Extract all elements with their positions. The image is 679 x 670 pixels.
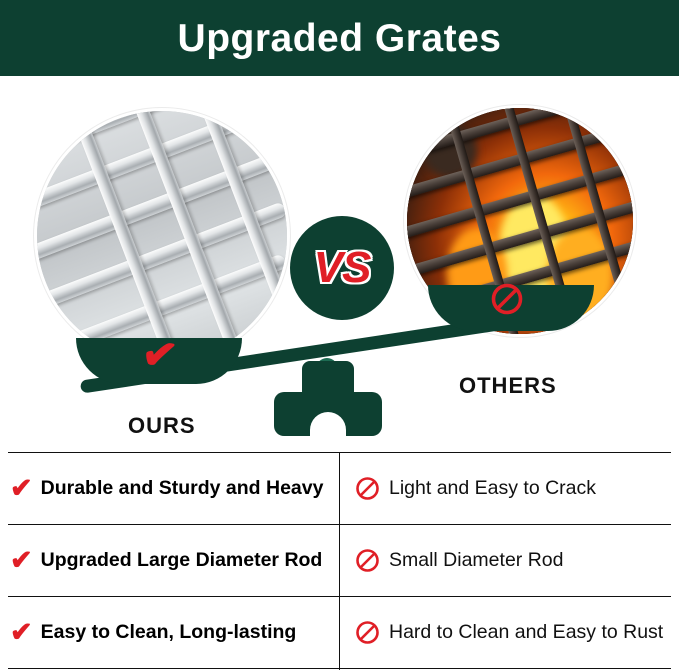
ours-product-photo [34,108,290,364]
prohibition-icon [355,476,380,501]
table-row: ✔ Easy to Clean, Long-lasting Hard to Cl… [0,596,679,668]
feature-cell-ours: ✔ Durable and Sturdy and Heavy [0,452,339,524]
feature-label-ours: Durable and Sturdy and Heavy [41,477,324,499]
feature-label-ours: Easy to Clean, Long-lasting [41,621,297,643]
feature-label-ours: Upgraded Large Diameter Rod [41,549,323,571]
feature-label-others: Hard to Clean and Easy to Rust [389,621,663,643]
scale-base [274,361,382,436]
vs-badge: VS [290,216,394,320]
feature-cell-ours: ✔ Easy to Clean, Long-lasting [0,596,339,668]
feature-cell-others: Light and Easy to Crack [339,452,679,524]
feature-cell-ours: ✔ Upgraded Large Diameter Rod [0,524,339,596]
comparison-stage: ✔ OURS OTHERS VS [0,76,679,452]
stainless-rods-illustration [34,108,290,364]
table-row: ✔ Durable and Sturdy and Heavy Light and… [0,452,679,524]
prohibition-icon [490,282,524,316]
check-icon: ✔ [139,332,180,378]
prohibition-icon [355,620,380,645]
label-ours: OURS [128,413,196,439]
prohibition-icon [355,548,380,573]
feature-cell-others: Hard to Clean and Easy to Rust [339,596,679,668]
header-banner: Upgraded Grates [0,0,679,76]
check-icon: ✔ [10,547,33,574]
check-icon: ✔ [10,475,33,502]
feature-label-others: Small Diameter Rod [389,549,563,571]
table-row: ✔ Upgraded Large Diameter Rod Small Diam… [0,524,679,596]
label-others: OTHERS [459,373,557,399]
feature-cell-others: Small Diameter Rod [339,524,679,596]
feature-comparison-table: ✔ Durable and Sturdy and Heavy Light and… [0,452,679,670]
feature-label-others: Light and Easy to Crack [389,477,596,499]
vs-label: VS [314,243,371,293]
page-title: Upgraded Grates [178,19,502,58]
check-icon: ✔ [10,619,33,646]
